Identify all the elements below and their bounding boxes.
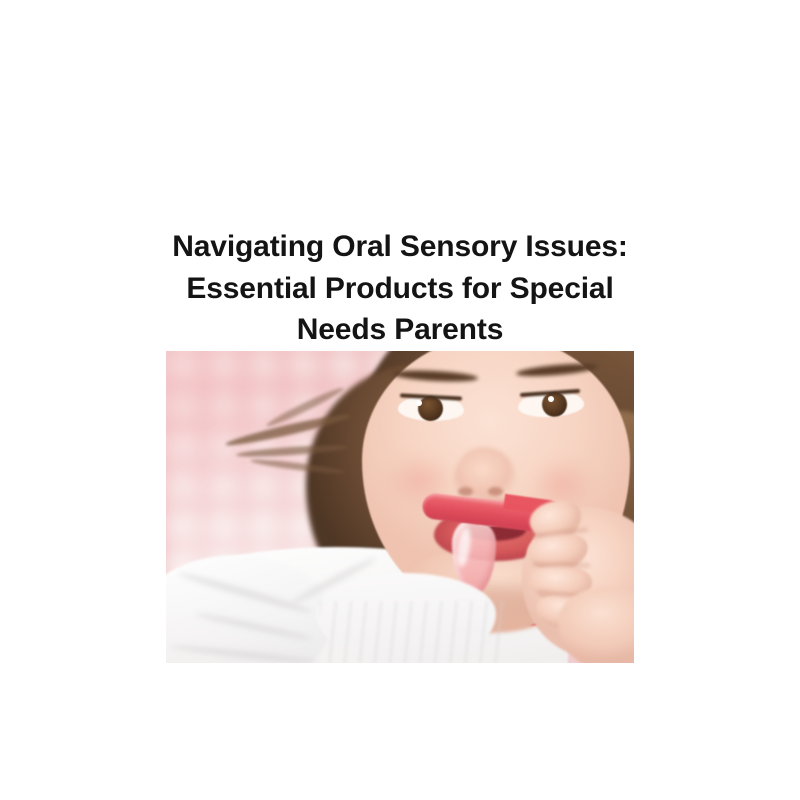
poster-canvas: Navigating Oral Sensory Issues: Essentia…: [0, 0, 800, 800]
wrist: [558, 587, 634, 663]
title-line-2: Essential Products for Special: [150, 268, 650, 310]
dress-pleats: [320, 601, 510, 663]
title-line-1: Navigating Oral Sensory Issues:: [150, 226, 650, 268]
page-title: Navigating Oral Sensory Issues: Essentia…: [150, 226, 650, 351]
eye-glint-right: [548, 396, 554, 402]
eye-glint-left: [416, 400, 422, 406]
nostril-right: [488, 487, 503, 496]
hero-photo: [166, 351, 634, 663]
title-line-3: Needs Parents: [150, 309, 650, 351]
photo-scene: [166, 351, 634, 663]
nostril-left: [458, 487, 473, 496]
